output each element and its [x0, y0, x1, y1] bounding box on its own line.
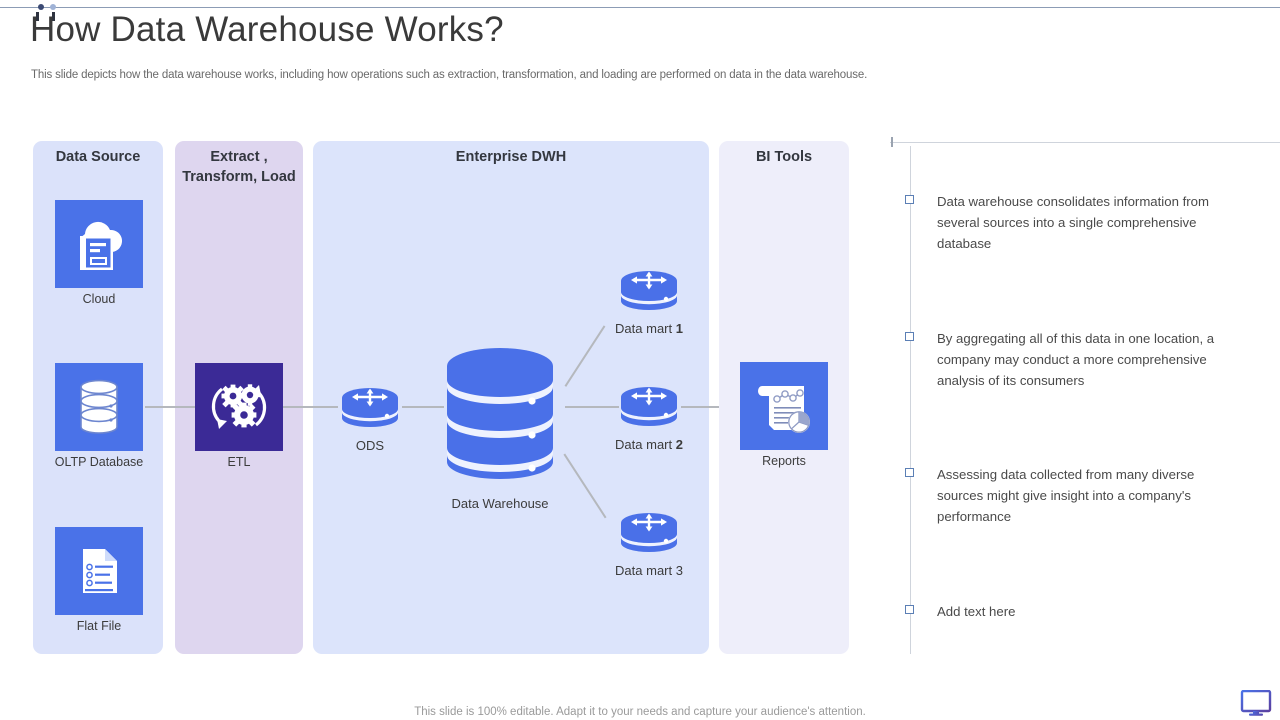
database-stack-icon[interactable]: OLTP Database [55, 363, 143, 451]
connector-source-to-etl [145, 406, 195, 408]
tile-label-flat-file: Flat File [27, 619, 171, 633]
footer-note: This slide is 100% editable. Adapt it to… [0, 706, 1280, 718]
panel-title-etl: Extract , Transform, Load [175, 148, 303, 187]
label-ods: ODS [356, 438, 384, 453]
label-data-warehouse: Data Warehouse [451, 496, 548, 511]
tile-label-cloud: Cloud [27, 292, 171, 306]
panel-title-bi-tools: BI Tools [719, 148, 849, 168]
bullet-square-icon [905, 332, 914, 341]
tile-label-reports: Reports [712, 454, 856, 468]
panel-title-enterprise-dwh: Enterprise DWH [313, 148, 709, 168]
data-warehouse-node[interactable]: Data Warehouse [443, 344, 557, 484]
bullet-rail-vertical [910, 146, 911, 654]
bullet-text: Assessing data collected from many diver… [937, 464, 1237, 527]
panel-title-data-source: Data Source [33, 148, 163, 168]
bullet-square-icon [905, 468, 914, 477]
ods-node[interactable]: ODS [338, 382, 402, 434]
bullet-text: Add text here [937, 601, 1237, 622]
label-data-mart-3: Data mart 3 [615, 563, 683, 578]
tile-label-oltp: OLTP Database [27, 455, 171, 469]
connector-etl-to-ods [283, 406, 338, 408]
bullet-rail-horizontal [890, 142, 1280, 143]
bullet-text: By aggregating all of this data in one l… [937, 328, 1237, 391]
document-list-icon[interactable]: Flat File [55, 527, 143, 615]
label-data-mart-2: Data mart 2 [615, 437, 683, 452]
label-data-mart-1: Data mart 1 [615, 321, 683, 336]
bullet-rail-cap [891, 137, 893, 147]
page-title: How Data Warehouse Works? [30, 10, 504, 50]
bullet-square-icon [905, 195, 914, 204]
connector-ods-to-warehouse [402, 406, 444, 408]
gears-cycle-icon[interactable]: ETL [195, 363, 283, 451]
connector-warehouse-to-dm2 [565, 406, 619, 408]
bullet-square-icon [905, 605, 914, 614]
top-rule [0, 7, 1280, 8]
data-mart-3-node[interactable]: Data mart 3 [617, 507, 681, 559]
data-mart-1-node[interactable]: Data mart 1 [617, 265, 681, 317]
report-chart-icon[interactable]: Reports [740, 362, 828, 450]
cloud-document-icon[interactable]: Cloud [55, 200, 143, 288]
tile-label-etl: ETL [167, 455, 311, 469]
bullet-text: Data warehouse consolidates information … [937, 191, 1237, 254]
page-subtitle: This slide depicts how the data warehous… [31, 69, 867, 81]
slide-canvas: How Data Warehouse Works? This slide dep… [0, 0, 1280, 720]
data-mart-2-node[interactable]: Data mart 2 [617, 381, 681, 433]
monitor-icon [1240, 690, 1272, 716]
